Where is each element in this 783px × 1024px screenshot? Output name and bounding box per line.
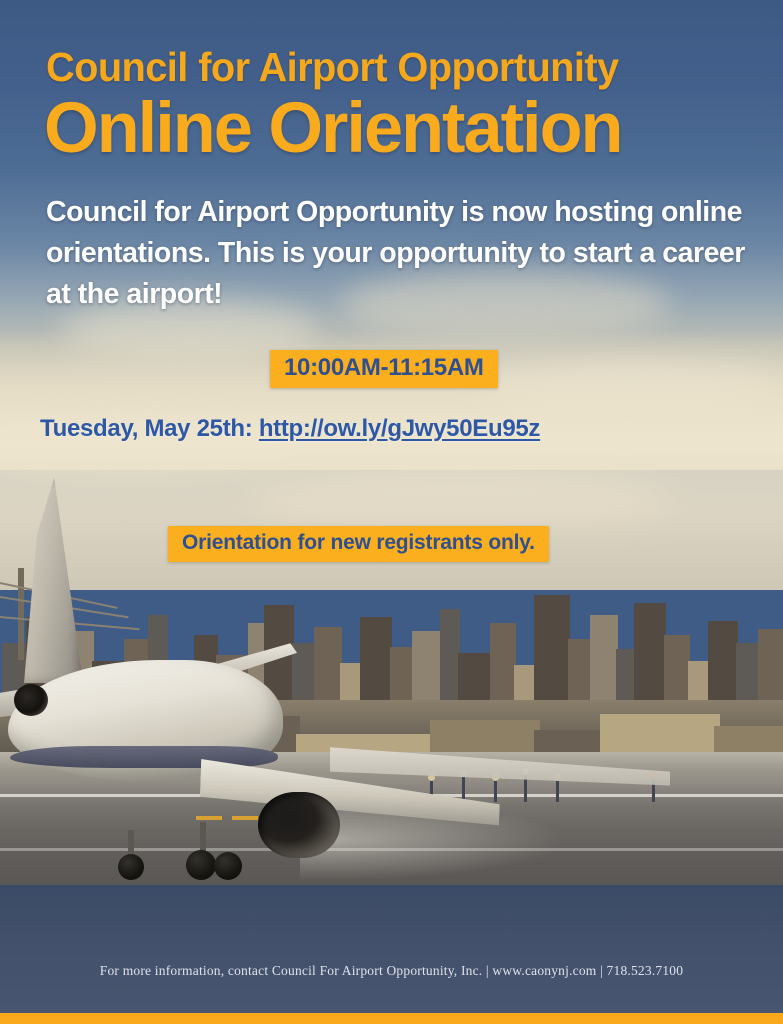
registrants-note-badge: Orientation for new registrants only.	[168, 526, 549, 562]
date-prefix: Tuesday, May 25th:	[40, 415, 259, 442]
poster-title-line1: Council for Airport Opportunity	[46, 44, 619, 91]
poster-title-line2: Online Orientation	[44, 91, 621, 167]
time-badge: 10:00AM-11:15AM	[270, 350, 498, 388]
registration-link[interactable]: http://ow.ly/gJwy50Eu95z	[259, 415, 540, 442]
poster-lede-text: Council for Airport Opportunity is now h…	[46, 192, 746, 315]
poster-content: Council for Airport Opportunity Online O…	[0, 0, 783, 1024]
poster-flyer: A WHOLE NEW LGA EWR NEWARK LIBERTY	[0, 0, 783, 1024]
date-and-link-line: Tuesday, May 25th: http://ow.ly/gJwy50Eu…	[40, 415, 540, 443]
